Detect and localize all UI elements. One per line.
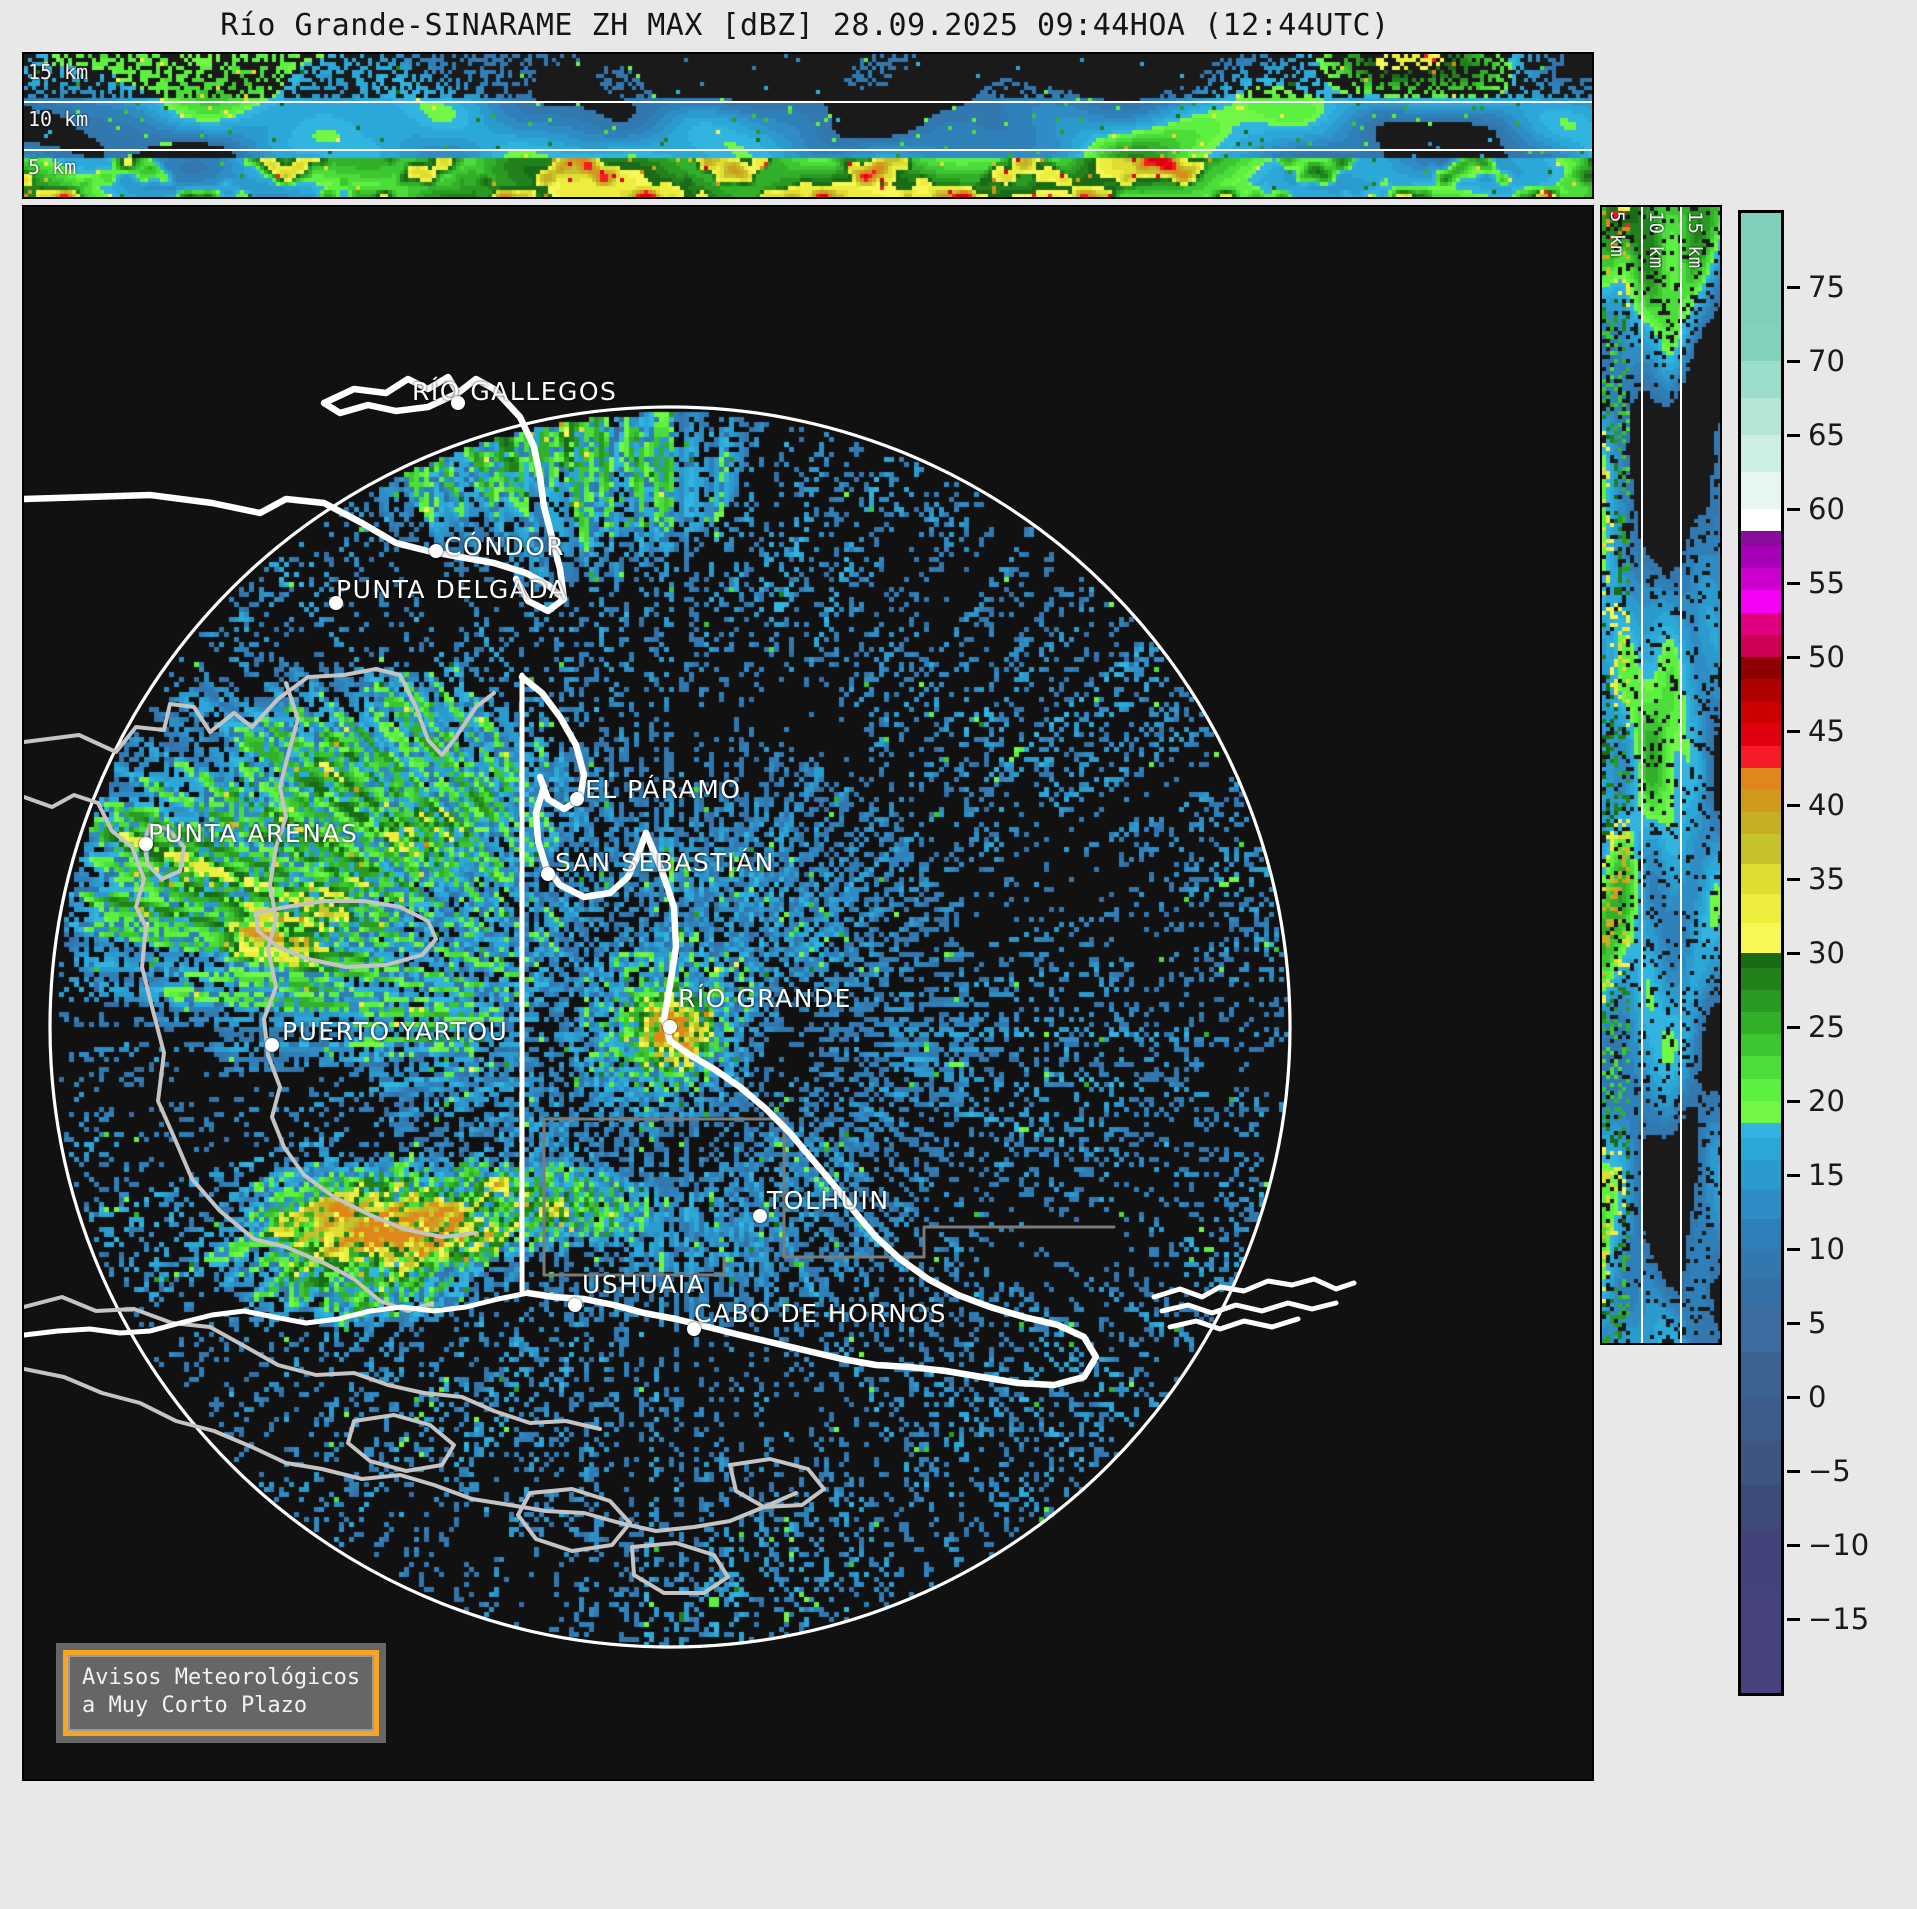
city-marker-tolhuin bbox=[753, 1209, 767, 1223]
colorbar-tick: 35 bbox=[1787, 862, 1845, 896]
colorbar-band bbox=[1741, 435, 1781, 472]
colorbar-tick: −10 bbox=[1787, 1528, 1869, 1562]
side-cross-section-panel: 5 km 10 km 15 km bbox=[1600, 205, 1722, 1345]
colorbar-tick-label: 75 bbox=[1808, 270, 1845, 304]
side-height-label-15km: 15 km bbox=[1684, 211, 1706, 268]
colorbar-band bbox=[1741, 968, 1781, 990]
colorbar-band bbox=[1741, 250, 1781, 287]
page-title: Río Grande-SINARAME ZH MAX [dBZ] 28.09.2… bbox=[0, 8, 1610, 43]
city-marker-san-sebasti-n bbox=[541, 867, 555, 881]
colorbar-tick-mark bbox=[1787, 1544, 1800, 1547]
top-height-label-10km: 10 km bbox=[28, 107, 88, 131]
side-height-label-10km: 10 km bbox=[1645, 211, 1667, 268]
colorbar-band bbox=[1741, 790, 1781, 812]
colorbar-tick: 0 bbox=[1787, 1380, 1826, 1414]
colorbar-band bbox=[1741, 531, 1781, 546]
top-height-label-5km: 5 km bbox=[28, 155, 76, 179]
colorbar-tick: 40 bbox=[1787, 788, 1845, 822]
colorbar-tick-mark bbox=[1787, 730, 1800, 733]
colorbar-band bbox=[1741, 1138, 1781, 1160]
colorbar-tick: 60 bbox=[1787, 492, 1845, 526]
city-marker-ushuaia bbox=[568, 1298, 582, 1312]
colorbar-tick-label: 60 bbox=[1808, 492, 1845, 526]
colorbar-band bbox=[1741, 1056, 1781, 1078]
colorbar-band bbox=[1741, 509, 1781, 531]
colorbar-band bbox=[1741, 953, 1781, 968]
colorbar-tick-label: 5 bbox=[1808, 1306, 1826, 1340]
colorbar-tick-label: 30 bbox=[1808, 936, 1845, 970]
colorbar-band bbox=[1741, 287, 1781, 324]
colorbar-band bbox=[1741, 1101, 1781, 1123]
colorbar-band bbox=[1741, 1123, 1781, 1138]
colorbar-band bbox=[1741, 546, 1781, 568]
colorbar-tick: 50 bbox=[1787, 640, 1845, 674]
colorbar-band bbox=[1741, 812, 1781, 834]
colorbar-band bbox=[1741, 1648, 1781, 1692]
colorbar-tick: −5 bbox=[1787, 1454, 1851, 1488]
colorbar-band bbox=[1741, 613, 1781, 635]
colorbar-tick-mark bbox=[1787, 1174, 1800, 1177]
colorbar-band bbox=[1741, 679, 1781, 701]
gridline-v-10km bbox=[1680, 207, 1682, 1343]
colorbar-band bbox=[1741, 1352, 1781, 1396]
colorbar-tick: 75 bbox=[1787, 270, 1845, 304]
colorbar-tick-mark bbox=[1787, 508, 1800, 511]
colorbar-tick-label: 45 bbox=[1808, 714, 1845, 748]
colorbar-tick: 30 bbox=[1787, 936, 1845, 970]
colorbar-tick-label: 65 bbox=[1808, 418, 1845, 452]
colorbar-tick-mark bbox=[1787, 1248, 1800, 1251]
colorbar-band bbox=[1741, 1079, 1781, 1101]
colorbar-tick: 5 bbox=[1787, 1306, 1826, 1340]
colorbar-band bbox=[1741, 568, 1781, 590]
city-marker-r-o-gallegos bbox=[451, 396, 465, 410]
top-height-label-15km: 15 km bbox=[28, 60, 88, 84]
colorbar-band bbox=[1741, 472, 1781, 509]
colorbar-band bbox=[1741, 723, 1781, 745]
colorbar-tick-label: 35 bbox=[1808, 862, 1845, 896]
colorbar-tick: 55 bbox=[1787, 566, 1845, 600]
border-white bbox=[24, 377, 1354, 1385]
colorbar-band bbox=[1741, 864, 1781, 894]
colorbar-tick-label: 0 bbox=[1808, 1380, 1826, 1414]
colorbar-tick: 20 bbox=[1787, 1084, 1845, 1118]
colorbar-band bbox=[1741, 398, 1781, 435]
colorbar-band bbox=[1741, 590, 1781, 612]
avisos-legend-box: Avisos Meteorológicos a Muy Corto Plazo bbox=[56, 1643, 386, 1743]
city-marker-puerto-yartou bbox=[265, 1038, 279, 1052]
colorbar-tick-mark bbox=[1787, 434, 1800, 437]
colorbar-band bbox=[1741, 1219, 1781, 1249]
gridline-10km bbox=[24, 149, 1592, 151]
colorbar-band bbox=[1741, 1249, 1781, 1279]
city-marker-el-p-ramo bbox=[570, 792, 584, 806]
colorbar bbox=[1738, 210, 1784, 1696]
city-marker-punta-delgada bbox=[329, 596, 343, 610]
colorbar-axis: 757065605550454035302520151050−5−10−15 bbox=[1787, 210, 1907, 1696]
colorbar-band bbox=[1741, 894, 1781, 924]
colorbar-band bbox=[1741, 1397, 1781, 1441]
colorbar-band bbox=[1741, 768, 1781, 790]
colorbar-tick-label: 50 bbox=[1808, 640, 1845, 674]
colorbar-band bbox=[1741, 834, 1781, 864]
colorbar-band bbox=[1741, 1160, 1781, 1190]
colorbar-tick-mark bbox=[1787, 878, 1800, 881]
colorbar-tick: 65 bbox=[1787, 418, 1845, 452]
avisos-text-wrap: Avisos Meteorológicos a Muy Corto Plazo bbox=[68, 1655, 374, 1731]
colorbar-tick-mark bbox=[1787, 1026, 1800, 1029]
colorbar-tick-label: 40 bbox=[1808, 788, 1845, 822]
city-marker-cabo-de-hornos bbox=[687, 1322, 701, 1336]
footer-logos: Servicio Meteorológico Nacional Argentin… bbox=[0, 1781, 1917, 1909]
colorbar-band bbox=[1741, 1034, 1781, 1056]
top-cross-section-panel: 15 km 10 km 5 km bbox=[22, 52, 1594, 199]
colorbar-tick-label: −15 bbox=[1808, 1602, 1869, 1636]
colorbar-tick-label: 20 bbox=[1808, 1084, 1845, 1118]
colorbar-tick-mark bbox=[1787, 360, 1800, 363]
colorbar-band bbox=[1741, 746, 1781, 768]
colorbar-band bbox=[1741, 324, 1781, 361]
gridline-15km bbox=[24, 101, 1592, 103]
colorbar-tick-mark bbox=[1787, 1618, 1800, 1621]
colorbar-tick-label: 10 bbox=[1808, 1232, 1845, 1266]
colorbar-band bbox=[1741, 1441, 1781, 1485]
colorbar-tick-mark bbox=[1787, 1470, 1800, 1473]
colorbar-band bbox=[1741, 990, 1781, 1012]
colorbar-tick-mark bbox=[1787, 1322, 1800, 1325]
colorbar-tick-mark bbox=[1787, 804, 1800, 807]
map-vector-overlay bbox=[24, 207, 1592, 1779]
colorbar-tick-label: −5 bbox=[1808, 1454, 1851, 1488]
city-marker-punta-arenas bbox=[139, 837, 153, 851]
city-marker-c-ndor bbox=[429, 544, 443, 558]
colorbar-tick-label: 25 bbox=[1808, 1010, 1845, 1044]
colorbar-tick: 25 bbox=[1787, 1010, 1845, 1044]
gridline-v-5km bbox=[1641, 207, 1643, 1343]
colorbar-tick-label: −10 bbox=[1808, 1528, 1869, 1562]
colorbar-tick-mark bbox=[1787, 656, 1800, 659]
colorbar-band bbox=[1741, 657, 1781, 679]
colorbar-band bbox=[1741, 701, 1781, 723]
colorbar-band bbox=[1741, 1485, 1781, 1529]
colorbar-band bbox=[1741, 635, 1781, 657]
colorbar-band bbox=[1741, 1189, 1781, 1219]
colorbar-band bbox=[1741, 213, 1781, 250]
colorbar-tick-label: 15 bbox=[1808, 1158, 1845, 1192]
colorbar-tick-mark bbox=[1787, 1396, 1800, 1399]
colorbar-tick: 45 bbox=[1787, 714, 1845, 748]
radar-product-page: Río Grande-SINARAME ZH MAX [dBZ] 28.09.2… bbox=[0, 0, 1917, 1909]
colorbar-tick: −15 bbox=[1787, 1602, 1869, 1636]
colorbar-tick-mark bbox=[1787, 582, 1800, 585]
colorbar-tick-mark bbox=[1787, 286, 1800, 289]
avisos-accent-border: Avisos Meteorológicos a Muy Corto Plazo bbox=[63, 1650, 379, 1736]
side-height-label-5km: 5 km bbox=[1606, 211, 1628, 257]
colorbar-band bbox=[1741, 1012, 1781, 1034]
colorbar-band bbox=[1741, 1530, 1781, 1589]
colorbar-tick-mark bbox=[1787, 952, 1800, 955]
colorbar-tick-label: 70 bbox=[1808, 344, 1845, 378]
city-marker-r-o-grande bbox=[663, 1020, 677, 1034]
colorbar-tick: 15 bbox=[1787, 1158, 1845, 1192]
colorbar-gradient bbox=[1741, 213, 1781, 1693]
radar-plan-view-panel[interactable]: RÍO GALLEGOSCÓNDORPUNTA DELGADAEL PÁRAMO… bbox=[22, 205, 1594, 1781]
colorbar-band bbox=[1741, 1308, 1781, 1352]
colorbar-band bbox=[1741, 1278, 1781, 1308]
colorbar-band bbox=[1741, 923, 1781, 953]
top-cross-section-reflectivity bbox=[24, 54, 1592, 197]
colorbar-tick-label: 55 bbox=[1808, 566, 1845, 600]
avisos-line-2: a Muy Corto Plazo bbox=[82, 1692, 360, 1720]
avisos-line-1: Avisos Meteorológicos bbox=[82, 1664, 360, 1692]
colorbar-tick: 70 bbox=[1787, 344, 1845, 378]
colorbar-band bbox=[1741, 1589, 1781, 1648]
colorbar-band bbox=[1741, 361, 1781, 398]
side-cross-section-reflectivity bbox=[1602, 207, 1720, 1343]
colorbar-tick: 10 bbox=[1787, 1232, 1845, 1266]
colorbar-tick-mark bbox=[1787, 1100, 1800, 1103]
